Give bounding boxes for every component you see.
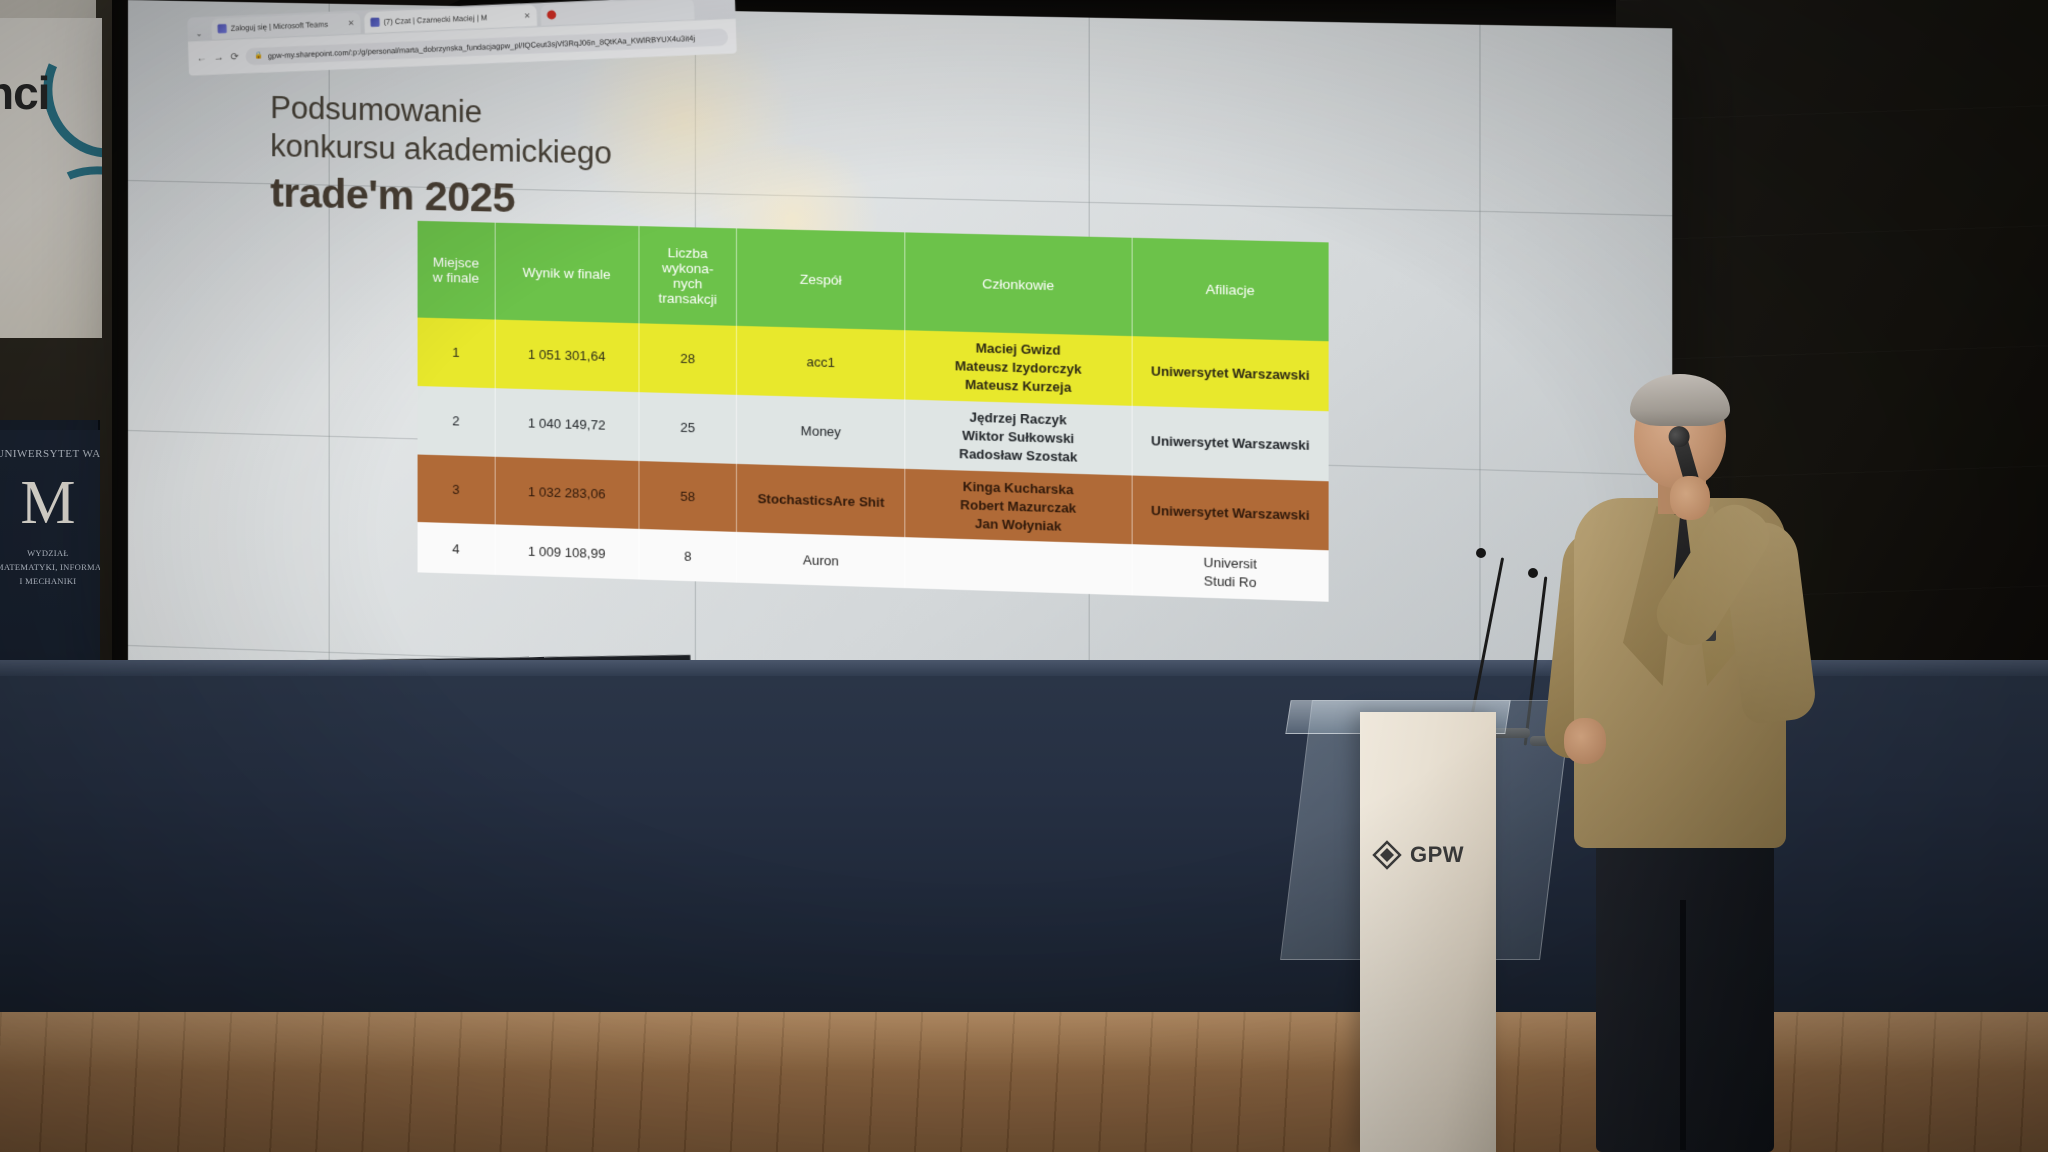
browser-tab-label: Zaloguj się | Microsoft Teams <box>231 20 329 33</box>
cell-place: 4 <box>418 522 495 575</box>
reload-icon[interactable]: ⟳ <box>230 51 239 62</box>
close-icon[interactable]: ✕ <box>524 11 531 20</box>
banner-faculty-line2: MATEMATYKI, INFORMATYKI <box>0 562 100 572</box>
banner-logo-letter: M <box>0 472 100 534</box>
conference-room-scene: nci UNIWERSYTET WARSZAWSKI M WYDZIAŁ MAT… <box>0 0 2048 1152</box>
cell-place: 2 <box>418 386 495 457</box>
cell-team: StochasticsAre Shit <box>737 464 905 538</box>
column-header-team: Zespół <box>737 228 905 330</box>
left-wall-sign: nci <box>0 18 102 338</box>
close-icon[interactable]: ✕ <box>347 19 354 28</box>
speaker-hair <box>1630 374 1730 426</box>
slide-title: Podsumowanie konkursu akademickiego <box>270 89 611 173</box>
cell-transactions: 25 <box>639 392 737 464</box>
forward-icon[interactable]: → <box>213 52 223 63</box>
cell-team: Auron <box>737 532 905 588</box>
banner-university-name: UNIWERSYTET WARSZAWSKI <box>0 448 100 460</box>
column-header-place: Miejsce w finale <box>418 221 495 320</box>
speaker-leg-gap <box>1680 900 1686 1150</box>
teams-icon <box>217 24 226 33</box>
presentation-slide: Podsumowanie konkursu akademickiego trad… <box>250 68 1666 688</box>
banner-faculty-line3: I MECHANIKI <box>0 576 100 586</box>
cell-transactions: 58 <box>639 461 737 533</box>
cell-members: Jędrzej Raczyk Wiktor Sułkowski Radosław… <box>905 399 1132 475</box>
cell-transactions: 28 <box>639 323 737 394</box>
cell-team: acc1 <box>737 326 905 399</box>
speaker-person <box>1560 380 1820 1152</box>
cell-team: Money <box>737 395 905 469</box>
cell-affiliation: Universit Studi Ro <box>1132 545 1329 602</box>
gpw-diamond-icon <box>1372 840 1402 870</box>
tab-list-chevron-icon[interactable]: ⌄ <box>196 29 203 38</box>
cell-result: 1 051 301,64 <box>495 320 639 392</box>
cell-place: 3 <box>418 454 495 525</box>
browser-tab-label: (7) Czat | Czarnecki Maciej | M <box>384 13 488 26</box>
cell-result: 1 032 283,06 <box>495 456 639 529</box>
speaker-left-hand <box>1564 718 1606 764</box>
podium-brand-text: GPW <box>1410 842 1464 868</box>
projection-screen: ⌄ Zaloguj się | Microsoft Teams ✕ (7) Cz… <box>128 0 1672 755</box>
cell-result: 1 009 108,99 <box>495 525 639 580</box>
column-header-members: Członkowie <box>905 232 1132 336</box>
podium <box>1360 712 1496 1152</box>
url-text: gpw-my.sharepoint.com/:p:/g/personal/mar… <box>268 33 695 60</box>
column-header-result: Wynik w finale <box>495 223 639 324</box>
slide-title-line3: trade'm 2025 <box>270 169 515 222</box>
back-icon[interactable]: ← <box>196 52 206 63</box>
recording-icon <box>547 10 556 19</box>
podium-brand-logo: GPW <box>1372 840 1494 870</box>
speaker-right-hand <box>1670 476 1710 520</box>
cell-affiliation: Uniwersytet Warszawski <box>1132 336 1329 411</box>
cell-transactions: 8 <box>639 529 737 583</box>
slide-title-line2: konkursu akademickiego <box>270 127 611 173</box>
banner-faculty-line1: WYDZIAŁ <box>0 548 100 558</box>
browser-window-chrome: ⌄ Zaloguj się | Microsoft Teams ✕ (7) Cz… <box>187 0 737 80</box>
cell-members <box>905 538 1132 596</box>
column-header-affiliation: Afiliacje <box>1132 238 1329 342</box>
microphone-capsule-left <box>1476 548 1486 558</box>
cell-place: 1 <box>418 318 495 388</box>
lock-icon: 🔒 <box>254 52 263 60</box>
cell-members: Maciej Gwizd Mateusz Izydorczyk Mateusz … <box>905 330 1132 405</box>
column-header-transactions: Liczba wykona- nych transakcji <box>639 226 737 326</box>
cell-result: 1 040 149,72 <box>495 388 639 461</box>
cell-affiliation: Uniwersytet Warszawski <box>1132 475 1329 551</box>
cell-members: Kinga Kucharska Robert Mazurczak Jan Woł… <box>905 468 1132 544</box>
swoosh-graphic-bottom <box>17 148 102 308</box>
left-sign-text: nci <box>0 66 86 120</box>
teams-icon <box>370 18 379 27</box>
results-table: Miejsce w finale Wynik w finale Liczba w… <box>418 221 1329 602</box>
cell-affiliation: Uniwersytet Warszawski <box>1132 406 1329 481</box>
microphone-capsule-right <box>1528 568 1538 578</box>
